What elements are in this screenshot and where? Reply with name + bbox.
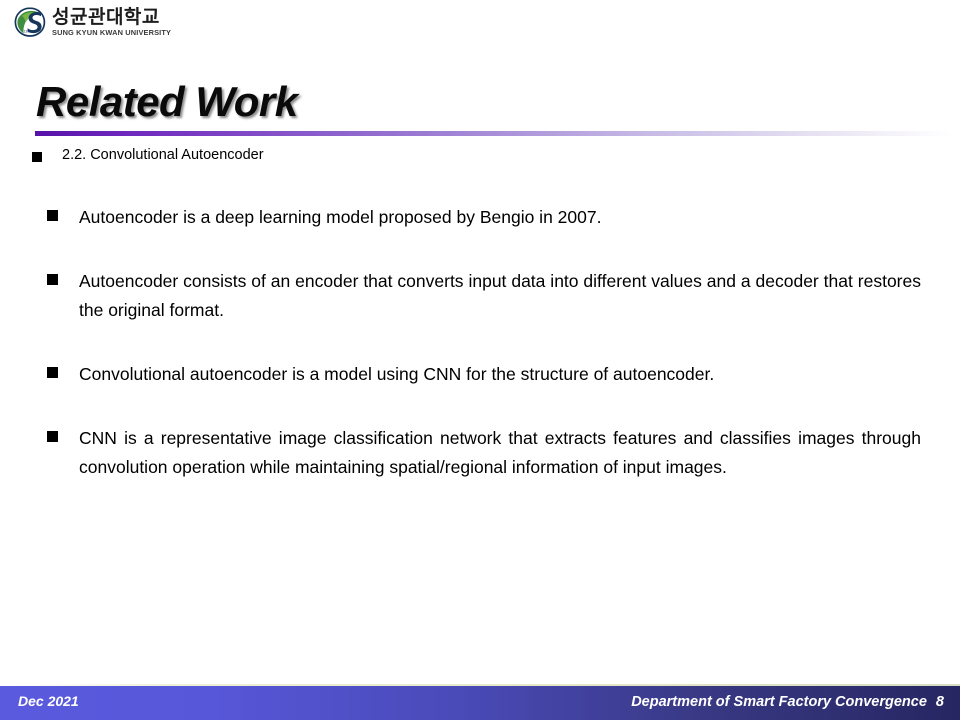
list-item-text: CNN is a representative image classifica…: [79, 424, 921, 482]
filled-square-bullet-icon: [32, 152, 42, 162]
page-title: Related Work: [36, 78, 298, 126]
filled-square-bullet-icon: [47, 274, 58, 285]
list-item-text: Autoencoder is a deep learning model pro…: [79, 203, 921, 232]
filled-square-bullet-icon: [47, 431, 58, 442]
skku-emblem-icon: 1398: [13, 6, 47, 38]
section-heading: 2.2. Convolutional Autoencoder: [32, 147, 264, 163]
section-heading-label: 2.2. Convolutional Autoencoder: [62, 147, 264, 163]
list-item: Autoencoder consists of an encoder that …: [47, 267, 921, 325]
logo-latin-name: SUNG KYUN KWAN UNIVERSITY: [52, 29, 171, 36]
bullet-list: Autoencoder is a deep learning model pro…: [47, 203, 921, 482]
spacer: [47, 232, 921, 267]
logo-korean-name: 성균관대학교: [52, 8, 171, 27]
footer-department: Department of Smart Factory Convergence: [631, 694, 927, 710]
list-item-text: Autoencoder consists of an encoder that …: [79, 267, 921, 325]
university-logo: 1398 성균관대학교 SUNG KYUN KWAN UNIVERSITY: [13, 6, 171, 38]
filled-square-bullet-icon: [47, 367, 58, 378]
list-item: CNN is a representative image classifica…: [47, 424, 921, 482]
list-item: Convolutional autoencoder is a model usi…: [47, 360, 921, 389]
footer-bar: Dec 2021 Department of Smart Factory Con…: [0, 686, 960, 720]
list-item-text: Convolutional autoencoder is a model usi…: [79, 360, 921, 389]
title-underline-rule: [35, 131, 953, 136]
spacer: [47, 389, 921, 424]
spacer: [47, 325, 921, 360]
footer-date: Dec 2021: [18, 693, 79, 709]
emblem-year-text: 1398: [24, 29, 32, 33]
page-number: 8: [936, 694, 944, 710]
footer-department-and-page: Department of Smart Factory Convergence8: [631, 694, 944, 710]
logo-wordmark: 성균관대학교 SUNG KYUN KWAN UNIVERSITY: [52, 8, 171, 36]
filled-square-bullet-icon: [47, 210, 58, 221]
list-item: Autoencoder is a deep learning model pro…: [47, 203, 921, 232]
